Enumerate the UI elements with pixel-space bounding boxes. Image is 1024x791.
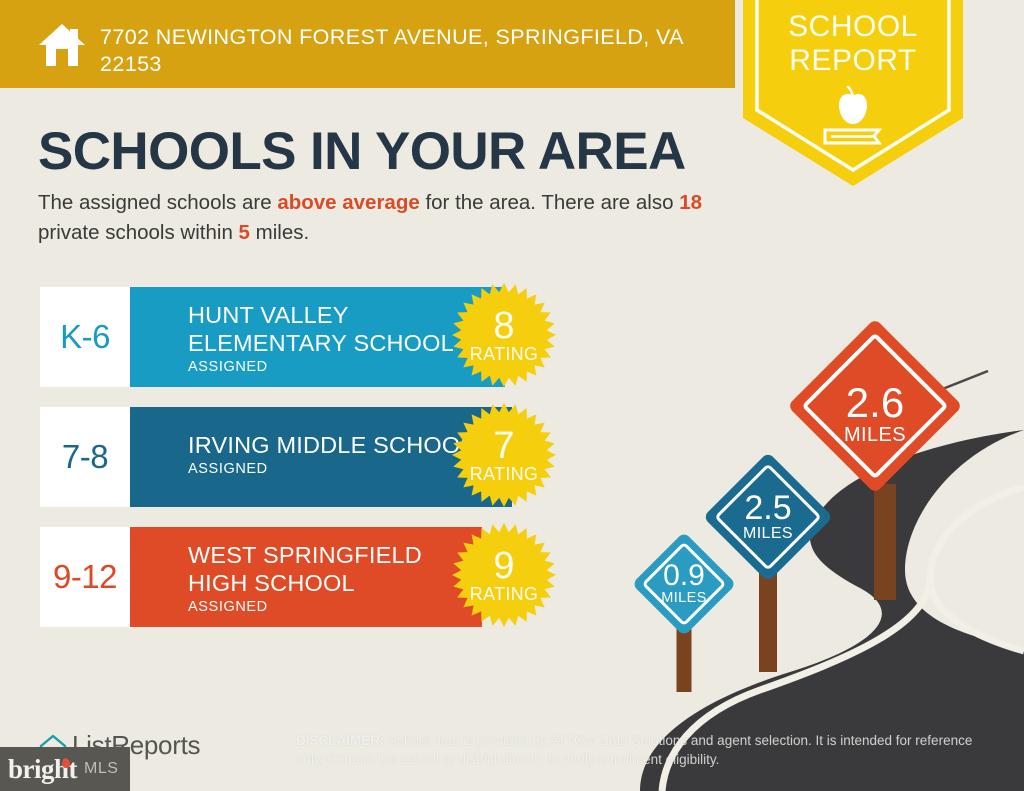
school-name-line2: ELEMENTARY SCHOOL [188,330,454,356]
school-rating-badge: 7 RATING [452,403,556,507]
grade-range-badge: 7-8 [40,407,130,507]
distance-sign-2-6-miles: 2.6 MILES [790,328,980,600]
school-name-line1: WEST SPRINGFIELD [188,542,422,568]
school-info-bar: HUNT VALLEY ELEMENTARY SCHOOL ASSIGNED [130,287,505,387]
rating-label: RATING [470,464,538,484]
rating-value: 8 [493,308,514,344]
school-info-bar: WEST SPRINGFIELD HIGH SCHOOL ASSIGNED [130,527,482,627]
rating-text-group: 8 RATING [452,283,556,387]
disclaimer-body: School data is provided by ATTOM Data So… [296,733,972,767]
school-name-line2: HIGH SCHOOL [188,570,355,596]
sign-wire-icon [940,370,990,392]
rating-text-group: 9 RATING [452,523,556,627]
rating-label: RATING [470,584,538,604]
bright-mls-watermark: bright MLS [0,747,130,791]
rating-label: RATING [470,344,538,364]
disclaimer-label: DISCLAIMER: [296,733,385,748]
school-name-line1: IRVING MIDDLE SCHOOL [188,432,474,458]
mls-suffix: MLS [84,760,118,778]
grade-range-badge: K-6 [40,287,130,387]
school-name-line1: HUNT VALLEY [188,302,349,328]
school-report-badge: SCHOOL REPORT [733,0,973,188]
sign-face [787,318,962,493]
rating-value: 9 [493,548,514,584]
sign-post [874,484,896,600]
sign-inner-border [801,332,948,479]
badge-label: SCHOOL REPORT [733,10,973,78]
school-status: ASSIGNED [188,599,482,615]
disclaimer-text: DISCLAIMER: School data is provided by A… [296,731,986,769]
school-rating-badge: 9 RATING [452,523,556,627]
header-bar: 7702 NEWINGTON FOREST AVENUE, SPRINGFIEL… [0,0,735,88]
home-icon [36,21,88,69]
grade-range-badge: 9-12 [40,527,130,627]
school-name: WEST SPRINGFIELD HIGH SCHOOL [188,541,482,597]
rating-text-group: 7 RATING [452,403,556,507]
rating-value: 7 [493,428,514,464]
property-address: 7702 NEWINGTON FOREST AVENUE, SPRINGFIEL… [100,24,700,78]
apple-on-books-icon [811,86,895,148]
bright-wordmark: bright [8,754,77,785]
school-rating-badge: 8 RATING [452,283,556,387]
school-report-infographic: 7702 NEWINGTON FOREST AVENUE, SPRINGFIEL… [0,0,1024,791]
